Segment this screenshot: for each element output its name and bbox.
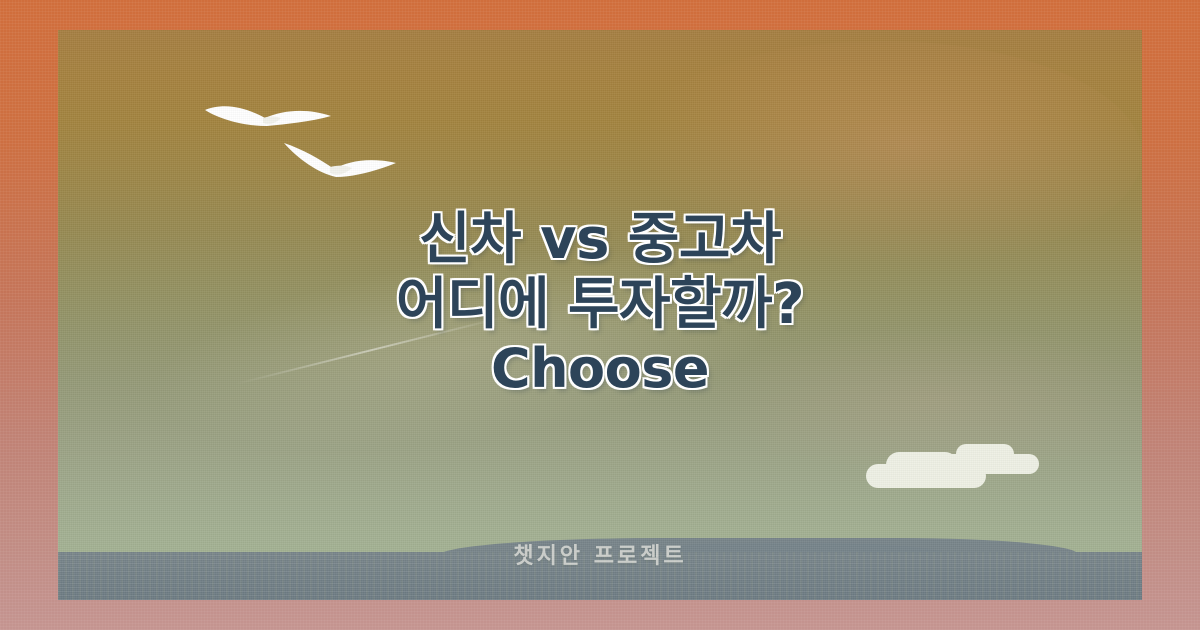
cloud-group: [856, 442, 1036, 490]
seagull-icon-lower: [280, 135, 400, 185]
sea-horizon: [58, 552, 1142, 600]
cloud-right-base: [941, 454, 1039, 474]
poster-canvas: 신차 vs 중고차 어디에 투자할까? Choose 챗지안 프로젝트: [0, 0, 1200, 630]
sky-haze-pale: [135, 214, 804, 485]
seagull-icon-upper: [203, 92, 338, 144]
photo-grain-overlay: [58, 30, 1142, 600]
title-line-1: 신차 vs 중고차: [58, 208, 1142, 273]
title-line-3: Choose: [58, 338, 1142, 401]
sky-streak: [235, 315, 509, 385]
sky-haze-warm: [622, 41, 1142, 269]
cloud-left-base: [866, 464, 986, 488]
sea-texture-overlay: [58, 552, 1142, 600]
cloud-left-top: [886, 452, 958, 478]
background-photo: 신차 vs 중고차 어디에 투자할까? Choose 챗지안 프로젝트: [58, 30, 1142, 600]
title-line-2: 어디에 투자할까?: [58, 273, 1142, 338]
poster-title-block: 신차 vs 중고차 어디에 투자할까? Choose: [58, 208, 1142, 401]
cloud-right-top: [956, 444, 1014, 464]
